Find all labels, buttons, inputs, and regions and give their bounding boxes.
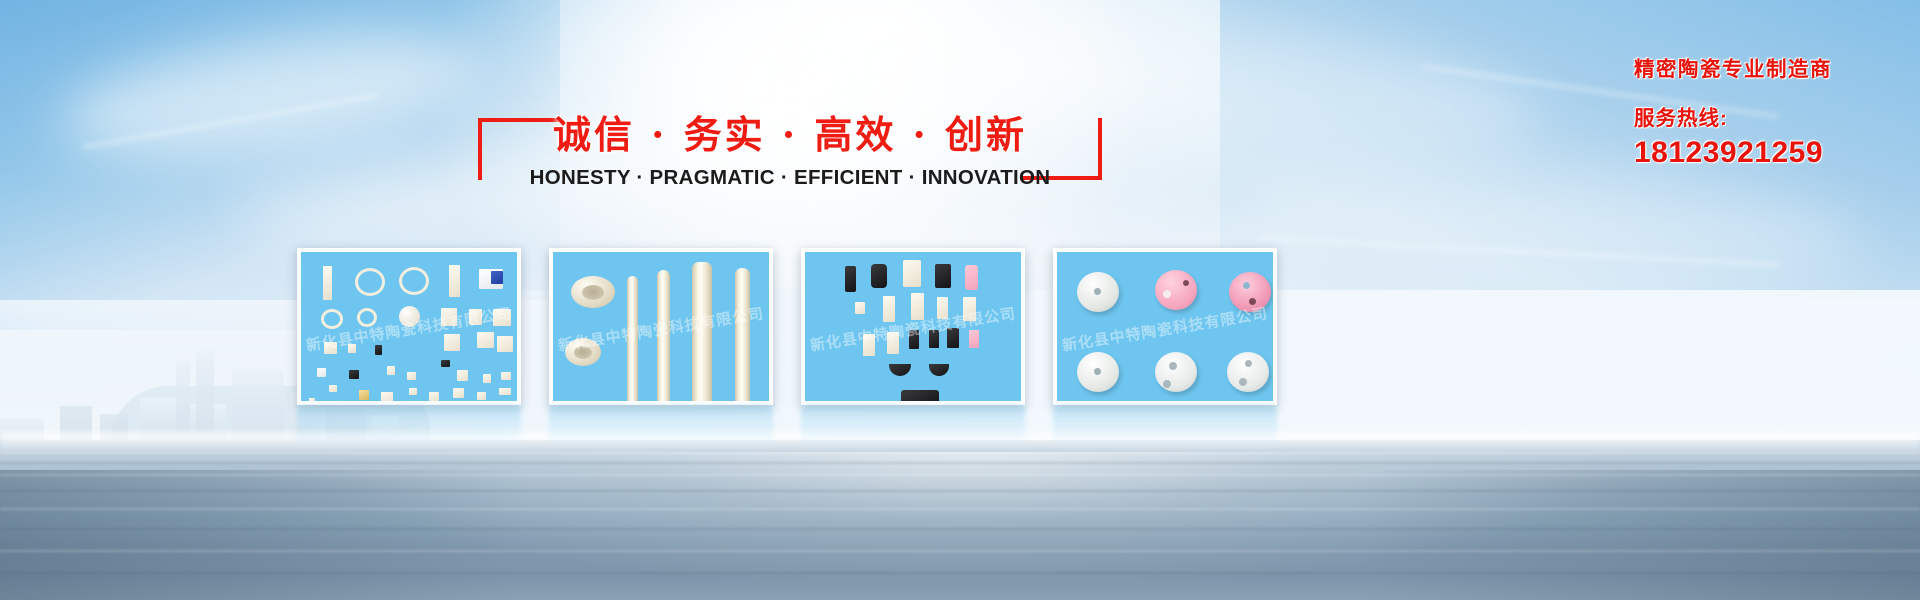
product-panel-chip-components[interactable]: 新化县中特陶瓷科技有限公司	[297, 248, 521, 405]
promotional-banner: 诚信 · 务实 · 高效 · 创新 HONESTY · PRAGMATIC · …	[0, 0, 1920, 600]
panel-reflection	[297, 405, 521, 445]
water-ripple	[0, 490, 1920, 492]
panel-image: 新化县中特陶瓷科技有限公司	[553, 252, 769, 401]
water-ripple	[0, 474, 1920, 476]
water-ripple	[0, 528, 1920, 530]
product-panel-ceramic-blocks[interactable]: 新化县中特陶瓷科技有限公司	[801, 248, 1025, 405]
panel-image: 新化县中特陶瓷科技有限公司	[301, 252, 517, 401]
panel-reflection	[549, 405, 773, 445]
slogan-chinese: 诚信 · 务实 · 高效 · 创新	[470, 104, 1110, 159]
product-panel-row: 新化县中特陶瓷科技有限公司 新化县中特陶瓷科技有限公司	[0, 248, 1920, 408]
product-panel-rods-tubes[interactable]: 新化县中特陶瓷科技有限公司	[549, 248, 773, 405]
hotline-number[interactable]: 18123921259	[1634, 136, 1832, 170]
slogan-english: HONESTY · PRAGMATIC · EFFICIENT · INNOVA…	[470, 166, 1110, 190]
product-panel-ceramic-discs[interactable]: 新化县中特陶瓷科技有限公司	[1053, 248, 1277, 405]
company-tagline: 精密陶瓷专业制造商	[1634, 52, 1832, 82]
water-ripple	[0, 572, 1920, 574]
contact-block: 精密陶瓷专业制造商 服务热线: 18123921259	[1634, 52, 1832, 170]
panel-image: 新化县中特陶瓷科技有限公司	[1057, 252, 1273, 401]
water-ripple	[0, 508, 1920, 510]
water-ripple	[0, 462, 1920, 464]
panel-image: 新化县中特陶瓷科技有限公司	[805, 252, 1021, 401]
panel-reflection	[801, 405, 1025, 445]
hotline-label: 服务热线:	[1634, 101, 1832, 131]
water-ripple	[0, 550, 1920, 552]
panel-reflection	[1053, 405, 1277, 445]
slogan-block: 诚信 · 务实 · 高效 · 创新 HONESTY · PRAGMATIC · …	[470, 104, 1110, 204]
